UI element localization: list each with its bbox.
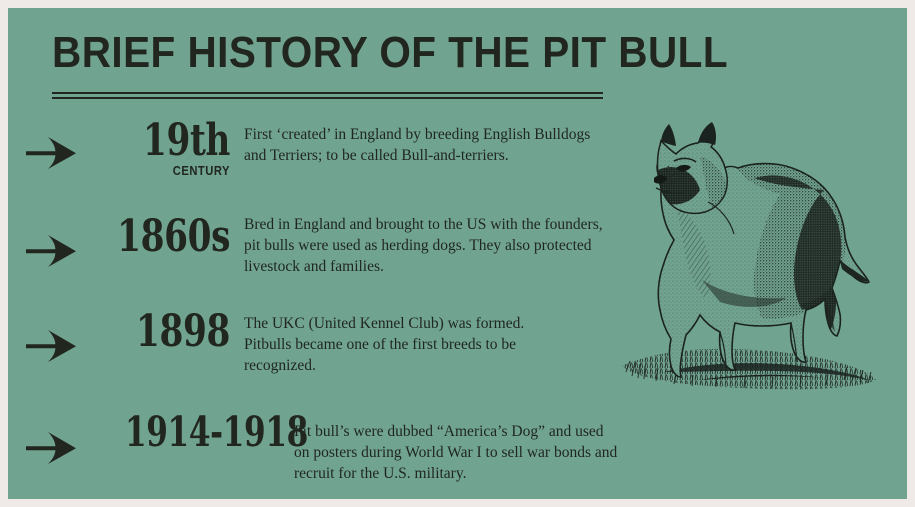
timeline-item-19th-century: 19th CENTURY First ‘created’ in England … [8, 116, 618, 212]
timeline-item-1914-1918: 1914-1918 Pit bull’s were dubbed “Americ… [8, 407, 618, 499]
timeline-description: The UKC (United Kennel Club) was formed.… [244, 313, 574, 376]
arrow-right-icon [8, 307, 76, 377]
page-title: BRIEF HISTORY OF THE PIT BULL [52, 30, 604, 76]
timeline-year: 1898 [110, 307, 230, 357]
timeline-description: Pit bull’s were dubbed “America’s Dog” a… [294, 421, 618, 484]
arrow-right-icon [8, 212, 76, 282]
timeline-description-cell: Bred in England and brought to the US wi… [244, 212, 618, 277]
timeline-year-cell: 1898 [76, 307, 244, 357]
timeline-description-cell: Pit bull’s were dubbed “America’s Dog” a… [294, 407, 618, 484]
timeline-year: 19th [110, 116, 230, 166]
timeline-year-cell: 19th CENTURY [76, 116, 244, 178]
timeline-item-1898: 1898 The UKC (United Kennel Club) was fo… [8, 307, 618, 407]
arrow-right-icon [8, 407, 76, 477]
page-title-block: BRIEF HISTORY OF THE PIT BULL [52, 30, 652, 76]
infographic-root: BRIEF HISTORY OF THE PIT BULL 19th CENTU… [0, 0, 915, 507]
timeline-year: 1860s [110, 212, 230, 262]
timeline-description: Bred in England and brought to the US wi… [244, 214, 618, 277]
timeline-item-1860s: 1860s Bred in England and brought to the… [8, 212, 618, 307]
title-double-rule [52, 92, 603, 99]
grass-ground [604, 334, 904, 404]
timeline-year-sublabel: CENTURY [98, 163, 230, 178]
timeline-year: 1914-1918 [125, 407, 280, 457]
timeline-description-cell: The UKC (United Kennel Club) was formed.… [244, 307, 618, 376]
timeline-year-cell: 1860s [76, 212, 244, 262]
arrow-right-icon [8, 116, 76, 186]
timeline-description-cell: First ‘created’ in England by breeding E… [244, 116, 618, 166]
timeline-year-cell: 1914-1918 [76, 407, 294, 457]
pit-bull-engraving-illustration [604, 104, 904, 404]
timeline-list: 19th CENTURY First ‘created’ in England … [8, 116, 618, 499]
infographic-panel: BRIEF HISTORY OF THE PIT BULL 19th CENTU… [8, 8, 907, 499]
timeline-description: First ‘created’ in England by breeding E… [244, 124, 604, 166]
ear-right [698, 122, 716, 145]
title-rule-bottom [52, 97, 603, 99]
